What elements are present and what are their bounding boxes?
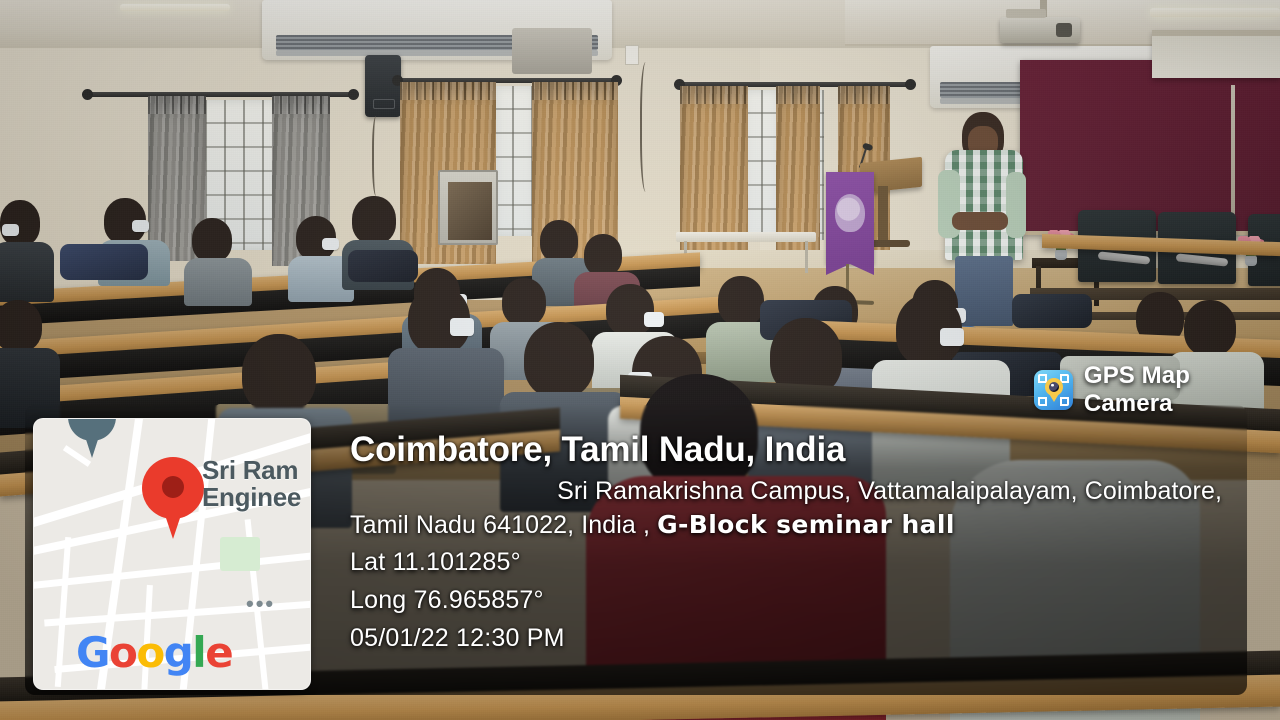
google-letter: o [136, 628, 163, 677]
folding-table-legs [684, 241, 808, 273]
tube-light [1150, 8, 1280, 17]
backpack [1012, 294, 1092, 328]
curtain-pleats [838, 86, 890, 104]
ceiling-projector [1000, 17, 1080, 43]
backpack [348, 250, 418, 282]
google-letter: o [109, 628, 136, 677]
map-pin-red [142, 457, 204, 519]
curtain-pleats [272, 96, 330, 114]
face-mask [2, 224, 19, 236]
board-seam [1231, 85, 1235, 231]
person-head [352, 196, 396, 244]
cable [372, 116, 382, 196]
google-logo: Google [76, 628, 232, 677]
person-head [0, 200, 40, 246]
face-mask [450, 318, 474, 336]
map-pin-grey [68, 418, 116, 441]
person-head [242, 334, 316, 414]
person-head [1184, 300, 1236, 356]
purple-banner [826, 172, 874, 264]
classroom-board [1020, 60, 1280, 235]
window-bars [744, 90, 780, 240]
person-head [524, 322, 594, 398]
map-road [63, 445, 91, 467]
curtain-pleats [532, 82, 618, 100]
curtain-pleats [148, 96, 206, 114]
icon-corner [1038, 397, 1047, 406]
pin-hole [162, 476, 184, 498]
gps-map-camera-brand: GPS Map Camera [1034, 362, 1280, 418]
face-mask [644, 312, 664, 327]
google-letter: g [164, 628, 193, 677]
presenter-hands [952, 212, 1008, 230]
equipment-cabinet [438, 170, 498, 245]
vase-pot [1245, 256, 1257, 266]
google-letter: l [192, 628, 205, 677]
banner-emblem [835, 194, 865, 232]
map-road [33, 550, 311, 590]
map-ellipsis: ••• [246, 591, 275, 617]
podium-stem [878, 186, 888, 242]
face-mask [322, 238, 339, 250]
window [495, 86, 535, 236]
cabinet-door [448, 182, 492, 240]
curtain-pleats [680, 86, 748, 104]
stamp-venue-name: G-Block seminar hall [657, 510, 955, 539]
person-body [184, 258, 252, 306]
stamp-longitude: Long 76.965857° [350, 583, 1250, 617]
map-thumbnail[interactable]: Sri Ram Enginee ••• Google [33, 418, 311, 690]
google-letter: G [76, 628, 109, 677]
stamp-address-line-2: Tamil Nadu 641022, India , G-Block semin… [350, 509, 1250, 541]
presenter-arm [1006, 172, 1026, 238]
person-head [584, 234, 622, 276]
person-head [718, 276, 764, 326]
vase-pot [1055, 250, 1067, 260]
screenshot-root: GPS Map Camera Sri Ram Enginee •• [0, 0, 1280, 720]
curtain-pleats [776, 86, 820, 104]
person-head [606, 284, 654, 336]
stamp-datetime: 05/01/22 12:30 PM [350, 621, 1250, 655]
stamp-latitude: Lat 11.101285° [350, 545, 1250, 579]
gps-map-camera-icon [1034, 370, 1073, 410]
window-bars [495, 86, 535, 236]
tube-light [120, 4, 230, 11]
person-head [192, 218, 232, 262]
gps-stamp-text: Coimbatore, Tamil Nadu, India Sri Ramakr… [350, 430, 1250, 655]
pin-bulb [68, 418, 116, 441]
person-body [0, 242, 54, 302]
map-park-area [220, 537, 260, 571]
face-mask [940, 328, 964, 346]
person-head [540, 220, 578, 262]
stamp-title: Coimbatore, Tamil Nadu, India [350, 430, 1250, 470]
wall-switch [625, 45, 639, 65]
curtain-pleats [400, 82, 496, 100]
google-letter: e [205, 628, 232, 677]
projection-screen [1152, 30, 1280, 78]
person-head [0, 300, 42, 352]
cable [640, 62, 654, 192]
icon-corner [1060, 397, 1069, 406]
person-head [502, 278, 546, 326]
wall-speaker [365, 55, 401, 117]
map-place-label: Sri Ram Enginee [202, 457, 311, 511]
camera-lens-icon [1049, 382, 1059, 392]
ac-control-box [512, 28, 592, 74]
window [744, 90, 780, 240]
stamp-address-line-1: Sri Ramakrishna Campus, Vattamalaipalaya… [350, 476, 1250, 507]
projector-bracket [1006, 9, 1046, 18]
face-mask [132, 220, 149, 232]
stamp-address-prefix: Tamil Nadu 641022, India , [350, 511, 657, 539]
backpack [60, 244, 148, 280]
brand-name: GPS Map Camera [1084, 362, 1280, 418]
